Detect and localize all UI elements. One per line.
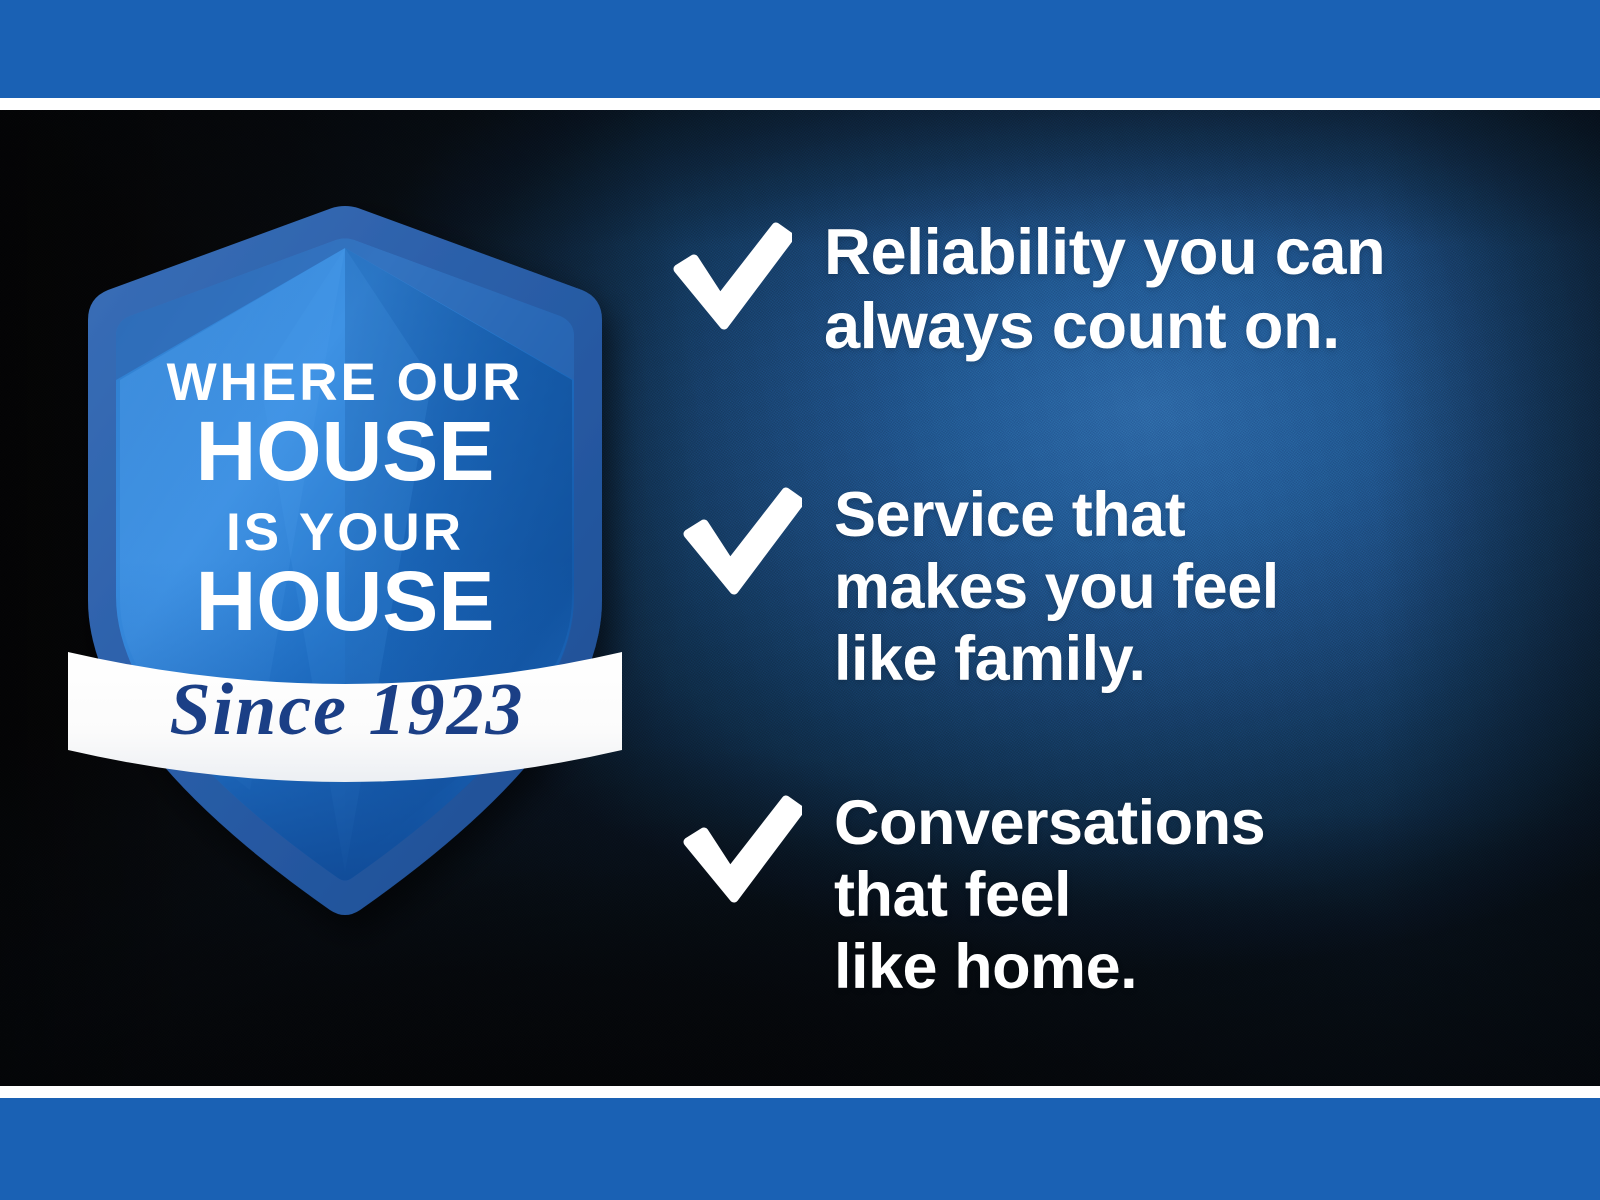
check-icon	[682, 486, 802, 596]
check-icon	[682, 794, 802, 904]
ribbon-label: Since 1923	[169, 669, 524, 751]
shield-ribbon: Since 1923	[68, 652, 622, 782]
top-white-rule	[0, 98, 1600, 110]
list-item: Service that makes you feel like family.	[682, 480, 1279, 695]
shield-line-2: HOUSE	[196, 404, 495, 498]
shield-line-4: HOUSE	[196, 554, 495, 648]
list-item: Reliability you can always count on.	[672, 215, 1385, 363]
top-brand-band	[0, 0, 1600, 98]
check-icon	[672, 221, 792, 331]
logo-shield: WHERE OUR HOUSE IS YOUR HOUSE Since 1923	[60, 130, 630, 820]
bottom-white-rule	[0, 1086, 1600, 1098]
promo-graphic: WHERE OUR HOUSE IS YOUR HOUSE Since 1923…	[0, 0, 1600, 1200]
list-item-text: Service that makes you feel like family.	[834, 480, 1279, 695]
benefit-list: Reliability you can always count on. Ser…	[672, 110, 1572, 1086]
list-item-text: Reliability you can always count on.	[824, 215, 1385, 363]
bottom-brand-band	[0, 1098, 1600, 1200]
list-item: Conversations that feel like home.	[682, 788, 1265, 1003]
list-item-text: Conversations that feel like home.	[834, 788, 1265, 1003]
